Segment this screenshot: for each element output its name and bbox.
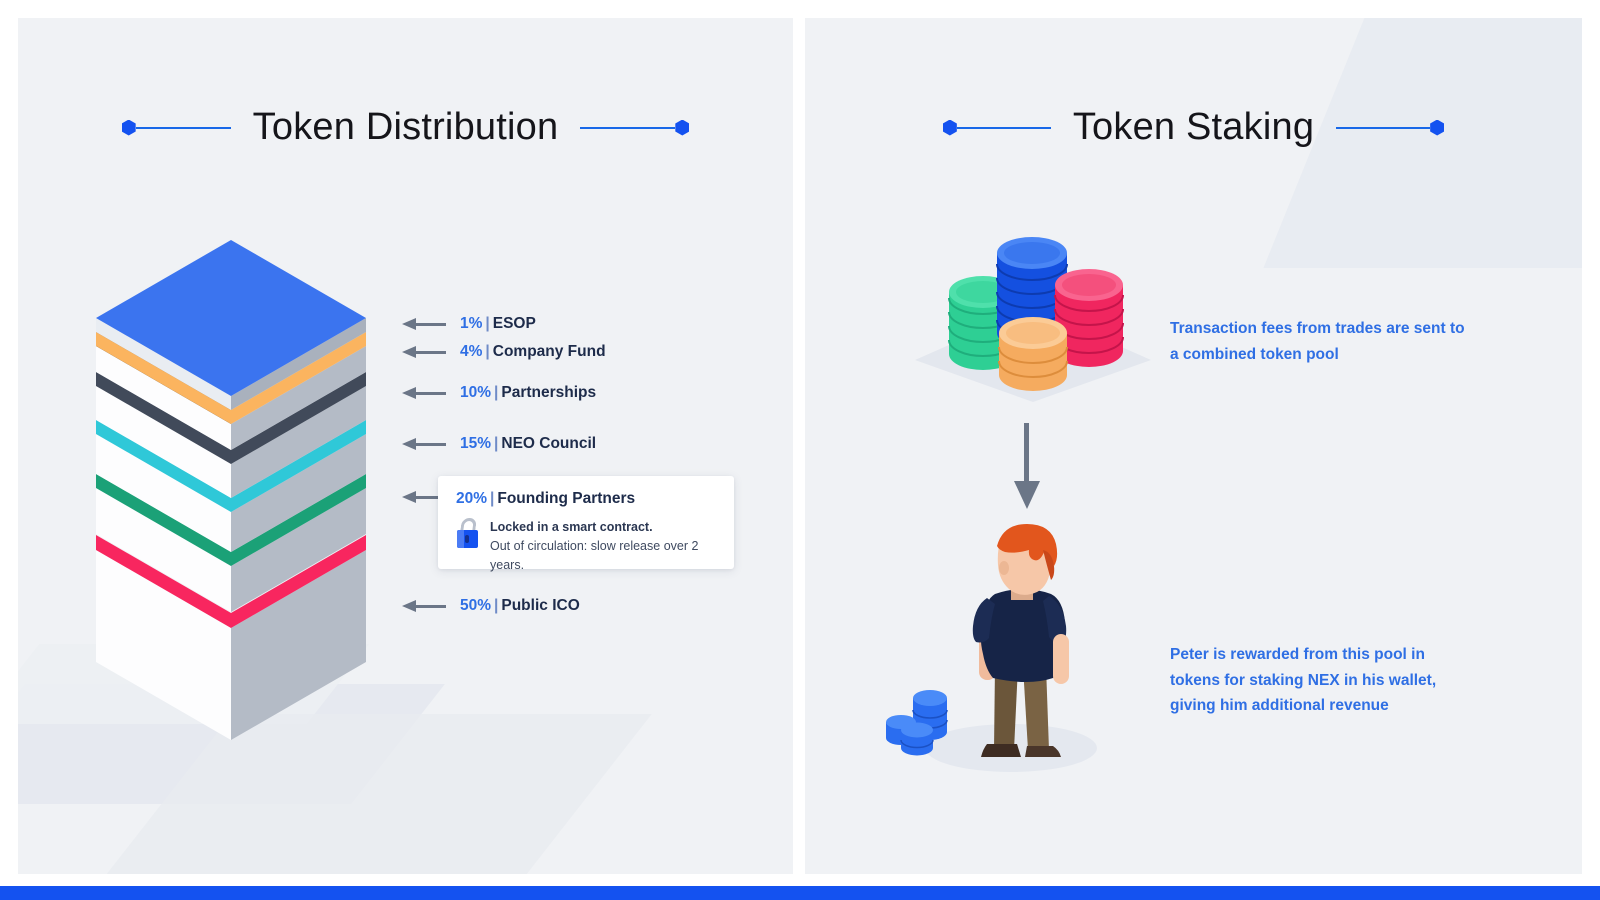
arrow-left-icon	[402, 318, 446, 330]
lock-icon	[456, 518, 481, 548]
arrow-left-icon	[402, 438, 446, 450]
token-distribution-panel: Token Distribution	[18, 18, 793, 874]
arrow-left-icon	[402, 387, 446, 399]
hex-dot-icon	[943, 120, 957, 136]
heading-rule-left	[957, 127, 1051, 129]
founding-partners-tooltip-card[interactable]: 20%|Founding Partners Locked in a smart …	[438, 476, 734, 569]
label-neo-council-text: 15%|NEO Council	[460, 435, 596, 453]
staking-heading: Token Staking	[805, 106, 1582, 149]
arrow-left-icon	[402, 346, 446, 358]
label-company-fund-text: 4%|Company Fund	[460, 343, 606, 361]
page-title: Token Staking	[1051, 106, 1336, 149]
down-arrow-icon	[1012, 423, 1042, 513]
pool-description-text: Transaction fees from trades are sent to…	[1170, 316, 1470, 367]
label-public-ico-text: 50%|Public ICO	[460, 597, 580, 615]
distribution-heading: Token Distribution	[18, 106, 793, 149]
label-company-fund: 4%|Company Fund	[402, 343, 606, 361]
hex-dot-icon	[675, 120, 689, 136]
floor-coin-stack-short-b	[901, 723, 933, 756]
heading-rule-right	[1336, 127, 1430, 129]
bottom-accent-bar	[0, 886, 1600, 900]
label-esop-text: 1%|ESOP	[460, 315, 536, 333]
isometric-token-stack	[76, 230, 396, 770]
label-public-ico: 50%|Public ICO	[402, 597, 580, 615]
person-illustration	[883, 516, 1123, 776]
tooltip-line-2: Out of circulation: slow release over 2 …	[490, 537, 718, 575]
label-partnerships: 10%|Partnerships	[402, 384, 596, 402]
label-partnerships-text: 10%|Partnerships	[460, 384, 596, 402]
tooltip-title: 20%|Founding Partners	[456, 490, 718, 508]
label-esop: 1%|ESOP	[402, 315, 536, 333]
page-title: Token Distribution	[231, 106, 581, 149]
token-staking-panel: Token Staking	[805, 18, 1582, 874]
heading-rule-left	[136, 127, 231, 129]
tooltip-line-1: Locked in a smart contract.	[490, 518, 718, 537]
arrow-left-icon	[402, 600, 446, 612]
reward-description-text: Peter is rewarded from this pool in toke…	[1170, 642, 1470, 719]
token-pool-coins	[903, 230, 1163, 405]
heading-rule-right	[580, 127, 675, 129]
hex-dot-icon	[1430, 120, 1444, 136]
orange-coin-stack	[999, 317, 1067, 391]
infographic-canvas: Token Distribution	[0, 0, 1600, 900]
label-neo-council: 15%|NEO Council	[402, 435, 596, 453]
hex-dot-icon	[122, 120, 136, 136]
